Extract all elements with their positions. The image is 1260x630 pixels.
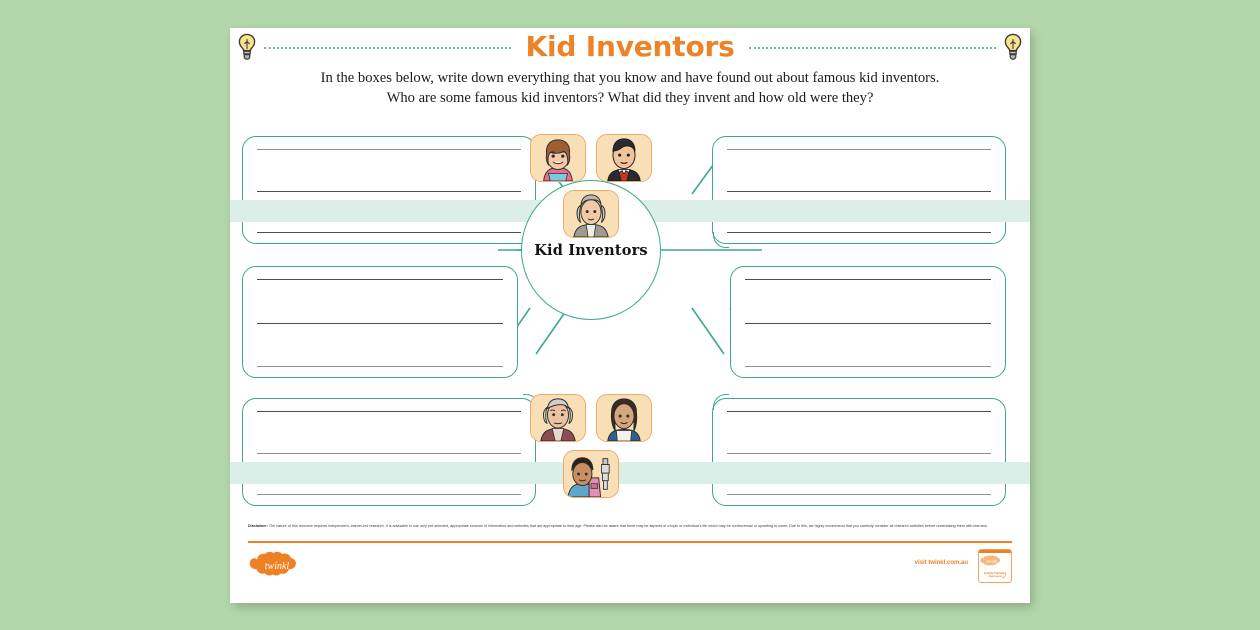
write-line[interactable] [727,232,991,233]
quality-standard-badge: twinkl Quality Standard Approved ✓ [978,549,1012,583]
svg-text:twinkl: twinkl [265,561,290,572]
write-line[interactable] [727,411,991,412]
header-dotted-rule-right [749,47,996,49]
check-icon: ✓ [1001,573,1008,581]
lightbulb-icon [236,32,258,62]
footer-divider [248,541,1012,543]
portrait-row-top [506,134,676,182]
write-line[interactable] [727,494,991,495]
write-line[interactable] [727,191,991,192]
answer-box-middle-left[interactable] [242,266,518,378]
girl-backpack-portrait-icon [563,450,619,498]
girl-portrait-icon [530,134,586,182]
worksheet-page: Kid Inventors In the boxes below, write … [230,28,1030,603]
disclaimer-label: Disclaimer: [248,524,268,528]
girl-dark-hair-portrait-icon [596,394,652,442]
benjamin-franklin-portrait-icon [563,190,619,238]
instructions-text: In the boxes below, write down everythin… [250,68,1010,108]
disclaimer-text: Disclaimer: The nature of this resource … [248,524,1012,529]
footer: twinkl visit twinkl.com.au twinkl Qualit… [248,547,1012,587]
write-line[interactable] [257,494,521,495]
write-line[interactable] [257,279,503,280]
badge-top-bar [979,550,1011,553]
write-line[interactable] [257,323,503,324]
portrait-row-bottom [506,394,676,442]
write-line[interactable] [727,453,991,454]
instructions-line-2: Who are some famous kid inventors? What … [250,88,1010,108]
header-dotted-rule-left [264,47,511,49]
write-line[interactable] [745,366,991,367]
man-portrait-icon [596,134,652,182]
portrait-row-bottom-second [506,450,676,498]
answer-box-middle-right[interactable] [730,266,1006,378]
write-line[interactable] [745,279,991,280]
write-line[interactable] [727,149,991,150]
svg-text:twinkl: twinkl [987,559,998,564]
twinkl-logo[interactable]: twinkl [248,551,306,579]
write-line[interactable] [257,366,503,367]
answer-box-bottom-right[interactable] [712,398,1006,506]
portrait-row-top-second [506,190,676,238]
lightbulb-icon [1002,32,1024,62]
page-title: Kid Inventors [511,30,748,64]
center-node-label: Kid Inventors [534,242,648,259]
write-line[interactable] [257,232,521,233]
write-line[interactable] [257,411,521,412]
write-line[interactable] [745,323,991,324]
worksheet-header: Kid Inventors [230,28,1030,66]
instructions-line-1: In the boxes below, write down everythin… [250,68,1010,88]
write-line[interactable] [257,149,521,150]
visit-url-label[interactable]: visit twinkl.com.au [915,560,968,566]
mindmap: Kid Inventors [230,132,1030,522]
write-line[interactable] [257,191,521,192]
disclaimer-body: The nature of this resource requires ind… [268,524,988,528]
answer-box-bottom-left[interactable] [242,398,536,506]
answer-box-top-left[interactable] [242,136,536,244]
elderly-man-portrait-icon [530,394,586,442]
portrait-cluster-top [506,134,676,238]
write-line[interactable] [257,453,521,454]
badge-twinkl-logo: twinkl [979,555,1005,567]
answer-box-top-right[interactable] [712,136,1006,244]
portrait-cluster-bottom [506,394,676,498]
